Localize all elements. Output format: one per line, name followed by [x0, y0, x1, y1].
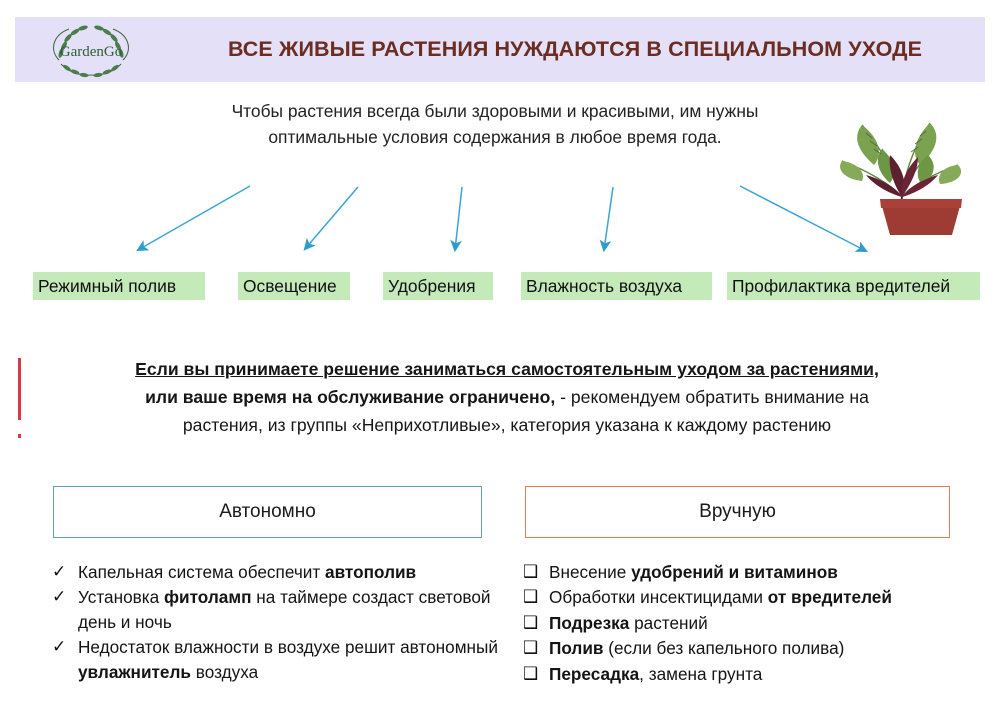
checkmark-icon: ✓	[48, 635, 78, 659]
callout-block: Если вы принимаете решение заниматься са…	[18, 358, 978, 448]
list-item: ✓Капельная система обеспечит автополив	[48, 560, 498, 584]
list-item-text: Обработки инсектицидами от вредителей	[549, 585, 981, 609]
tag-fertilizers: Удобрения	[383, 272, 493, 300]
tag-label: Освещение	[243, 276, 337, 296]
checkbox-square-icon: ❑	[521, 636, 549, 660]
mode-box-autonomous[interactable]: Автономно	[53, 486, 482, 538]
arrow-3	[455, 187, 462, 250]
tag-label: Режимный полив	[38, 276, 176, 296]
checkmark-icon: ✓	[48, 560, 78, 584]
callout-accent-dot	[18, 434, 21, 438]
list-item: ❑Подрезка растений	[521, 611, 981, 635]
checkbox-square-icon: ❑	[521, 611, 549, 635]
list-item-text: Недостаток влажности в воздухе решит авт…	[78, 635, 498, 684]
list-item: ❑Пересадка, замена грунта	[521, 662, 981, 686]
callout-line-2: или ваше время на обслуживание ограничен…	[36, 384, 978, 412]
subtitle-line-1: Чтобы растения всегда были здоровыми и к…	[150, 98, 840, 124]
arrow-2	[305, 187, 358, 249]
logo-wordmark: GardenGo	[60, 44, 122, 60]
slide-root: GardenGo ВСЕ ЖИВЫЕ РАСТЕНИЯ НУЖДАЮТСЯ В …	[0, 0, 1000, 724]
mode-box-autonomous-label: Автономно	[219, 501, 316, 523]
checkbox-square-icon: ❑	[521, 560, 549, 584]
arrow-1	[138, 186, 250, 250]
laurel-wreath-icon: GardenGo	[31, 20, 151, 80]
checkbox-square-icon: ❑	[521, 662, 549, 686]
list-item-text: Пересадка, замена грунта	[549, 662, 981, 686]
list-item-text: Капельная система обеспечит автополив	[78, 560, 498, 584]
checkmark-icon: ✓	[48, 585, 78, 609]
tag-air-humidity: Влажность воздуха	[521, 272, 712, 300]
list-item-text: Полив (если без капельного полива)	[549, 636, 981, 660]
list-item: ✓Установка фитоламп на таймере создаст с…	[48, 585, 498, 634]
tag-label: Профилактика вредителей	[732, 276, 950, 296]
list-item: ✓Недостаток влажности в воздухе решит ав…	[48, 635, 498, 684]
subtitle-line-2: оптимальные условия содержания в любое в…	[150, 124, 840, 150]
callout-line-3: растения, из группы «Неприхотливые», кат…	[36, 412, 978, 440]
list-item-text: Подрезка растений	[549, 611, 981, 635]
tag-label: Удобрения	[388, 276, 476, 296]
callout-line-1-text: Если вы принимаете решение заниматься са…	[135, 359, 879, 379]
mode-box-manual[interactable]: Вручную	[525, 486, 950, 538]
callout-accent-bar	[18, 358, 21, 420]
tag-lighting: Освещение	[238, 272, 350, 300]
callout-line-1: Если вы принимаете решение заниматься са…	[36, 356, 978, 384]
plant-photo	[818, 85, 988, 235]
autonomous-list: ✓Капельная система обеспечит автополив✓У…	[48, 560, 498, 685]
callout-text: Если вы принимаете решение заниматься са…	[36, 356, 978, 439]
list-item-text: Установка фитоламп на таймере создаст св…	[78, 585, 498, 634]
callout-line-2-bold: или ваше время на обслуживание ограничен…	[145, 387, 555, 407]
mode-box-manual-label: Вручную	[699, 501, 776, 523]
tag-regime-watering: Режимный полив	[33, 272, 205, 300]
potted-plant-icon	[818, 85, 988, 235]
tag-pest-prevention: Профилактика вредителей	[727, 272, 980, 300]
checkbox-square-icon: ❑	[521, 585, 549, 609]
header-band: GardenGo ВСЕ ЖИВЫЕ РАСТЕНИЯ НУЖДАЮТСЯ В …	[15, 17, 985, 82]
subtitle: Чтобы растения всегда были здоровыми и к…	[150, 98, 840, 150]
tag-label: Влажность воздуха	[526, 276, 682, 296]
list-item-text: Внесение удобрений и витаминов	[549, 560, 981, 584]
list-item: ❑Обработки инсектицидами от вредителей	[521, 585, 981, 609]
manual-list: ❑Внесение удобрений и витаминов❑Обработк…	[521, 560, 981, 687]
list-item: ❑Внесение удобрений и витаминов	[521, 560, 981, 584]
care-tags: Режимный полив Освещение Удобрения Влажн…	[0, 272, 1000, 302]
arrow-4	[604, 187, 613, 250]
list-item: ❑Полив (если без капельного полива)	[521, 636, 981, 660]
gardengo-logo: GardenGo	[31, 20, 151, 80]
page-title: ВСЕ ЖИВЫЕ РАСТЕНИЯ НУЖДАЮТСЯ В СПЕЦИАЛЬН…	[170, 17, 980, 82]
callout-line-2-rest: - рекомендуем обратить внимание на	[555, 387, 869, 407]
